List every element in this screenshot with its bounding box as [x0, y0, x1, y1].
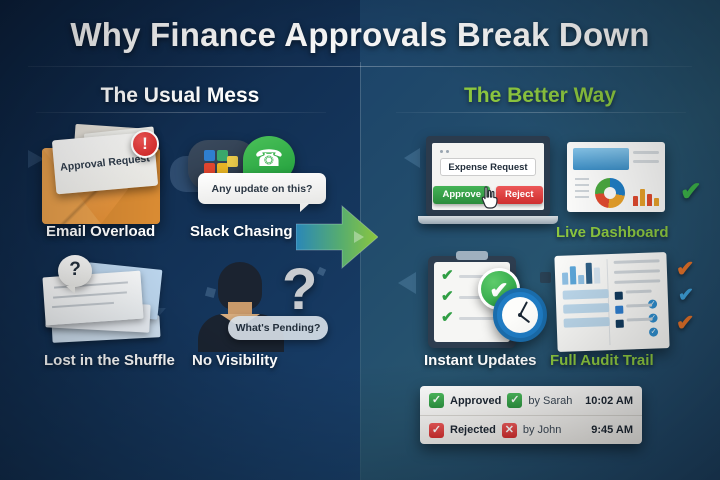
- infographic-canvas: Why Finance Approvals Break Down The Usu…: [0, 0, 720, 480]
- vignette-overlay: [0, 0, 720, 480]
